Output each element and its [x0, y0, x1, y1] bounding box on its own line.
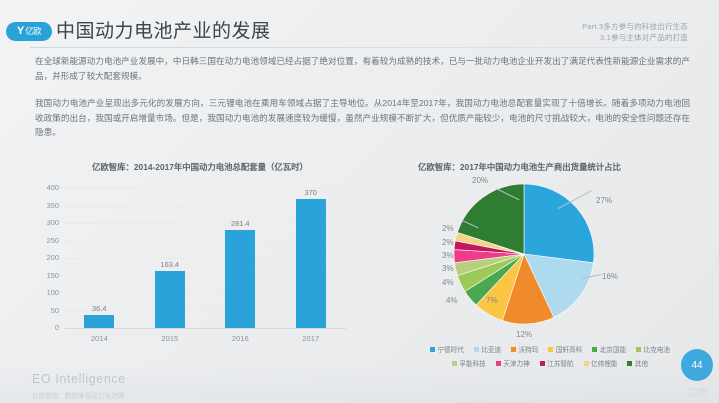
legend-item[interactable]: 比亚迪	[474, 344, 501, 354]
body-paragraph-2: 我国动力电池产业呈现出多元化的发展方向，三元锂电池在乘用车领域占据了主导地位。从…	[35, 96, 690, 140]
bar-chart-y-tick: 50	[33, 306, 59, 315]
legend-item[interactable]: 北京国能	[592, 344, 626, 354]
legend-swatch-icon	[430, 347, 435, 352]
bar-chart-y-tick: 0	[33, 323, 59, 332]
pie-percent-label: 27%	[596, 196, 612, 205]
legend-item[interactable]: 沃特玛	[511, 344, 538, 354]
pie-percent-label: 3%	[442, 264, 454, 273]
bar-chart-y-tick: 250	[33, 236, 59, 245]
pie-chart-circle	[454, 184, 594, 324]
pie-percent-label: 3%	[442, 251, 454, 260]
pie-percent-label: 2%	[442, 238, 454, 247]
bar-chart-bar[interactable]	[155, 271, 185, 328]
legend-label: 比亚迪	[481, 344, 501, 354]
bar-chart-bar[interactable]	[225, 230, 255, 328]
slide-root: Y 亿欧 中国动力电池产业的发展 Part.3多方参与的科技出行生态 3.1参与…	[0, 0, 719, 403]
legend-swatch-icon	[474, 347, 479, 352]
legend-label: 沃特玛	[519, 344, 539, 354]
pie-chart-svg	[454, 184, 594, 324]
bar-chart-y-tick: 350	[33, 201, 59, 210]
legend-item[interactable]: 宁德时代	[430, 344, 464, 354]
legend-item[interactable]: 国轩高科	[548, 344, 582, 354]
footer-logo: 亿欧	[687, 384, 707, 399]
bar-chart-bar[interactable]	[296, 199, 326, 329]
bar-chart-y-tick: 400	[33, 183, 59, 192]
bar-chart-category-label: 2016	[217, 334, 263, 343]
part-section-line-2: 3.1参与主体对产品的打造	[600, 32, 688, 43]
pie-chart-title: 亿欧智库：2017年中国动力电池生产商出货量统计占比	[418, 161, 621, 173]
legend-label: 国轩高科	[556, 344, 582, 354]
bar-chart-category-label: 2017	[288, 334, 334, 343]
title-divider	[30, 47, 689, 48]
bar-chart-value-label: 36.4	[76, 304, 122, 313]
bar-chart-y-tick: 150	[33, 271, 59, 280]
legend-swatch-icon	[548, 347, 553, 352]
bar-chart-value-label: 281.4	[217, 219, 263, 228]
pie-percent-label: 12%	[516, 330, 532, 339]
bar-chart-bar[interactable]	[84, 315, 114, 328]
bar-chart-baseline	[64, 328, 346, 329]
bar-chart-category-label: 2015	[147, 334, 193, 343]
eo-logo: Y 亿欧	[6, 22, 52, 41]
legend-label: 宁德时代	[437, 344, 463, 354]
pie-percent-label: 20%	[472, 176, 488, 185]
pie-percent-label: 2%	[442, 224, 454, 233]
legend-swatch-icon	[511, 347, 516, 352]
bar-chart-value-label: 370	[288, 188, 334, 197]
bar-chart-value-label: 163.4	[147, 260, 193, 269]
footer-source-note: 亿欧智库：数据来自动力电池网	[32, 390, 124, 400]
pie-percent-label: 4%	[446, 296, 458, 305]
pie-slice[interactable]	[524, 184, 594, 263]
bar-chart-y-tick: 300	[33, 218, 59, 227]
logo-cn-text: 亿欧	[25, 27, 41, 36]
legend-label: 比克电池	[644, 344, 670, 354]
pie-chart: 27%16%12%7%4%4%3%3%2%2%20% 宁德时代比亚迪沃特玛国轩高…	[398, 178, 692, 373]
legend-label: 北京国能	[600, 344, 626, 354]
bar-chart-category-label: 2014	[76, 334, 122, 343]
legend-swatch-icon	[592, 347, 597, 352]
bar-chart-y-tick: 200	[33, 253, 59, 262]
pie-percent-label: 7%	[486, 296, 498, 305]
page-title: 中国动力电池产业的发展	[56, 16, 271, 43]
part-section-line-1: Part.3多方参与的科技出行生态	[582, 21, 688, 32]
bar-chart-title: 亿欧智库：2014-2017年中国动力电池总配套量（亿瓦时）	[92, 161, 308, 173]
footer-brand: EO Intelligence	[32, 372, 126, 386]
pie-percent-label: 16%	[602, 272, 618, 281]
page-number-badge: 44	[681, 349, 713, 381]
body-paragraph-1: 在全球新能源动力电池产业发展中，中日韩三国在动力电池领域已经占据了绝对位置，有着…	[35, 54, 690, 83]
logo-y-glyph: Y	[17, 26, 24, 37]
bar-chart-y-tick: 100	[33, 288, 59, 297]
bar-chart: 050100150200250300350400 36.42014163.420…	[33, 180, 373, 358]
pie-percent-label: 4%	[442, 278, 454, 287]
legend-item[interactable]: 比克电池	[636, 344, 670, 354]
legend-swatch-icon	[636, 347, 641, 352]
